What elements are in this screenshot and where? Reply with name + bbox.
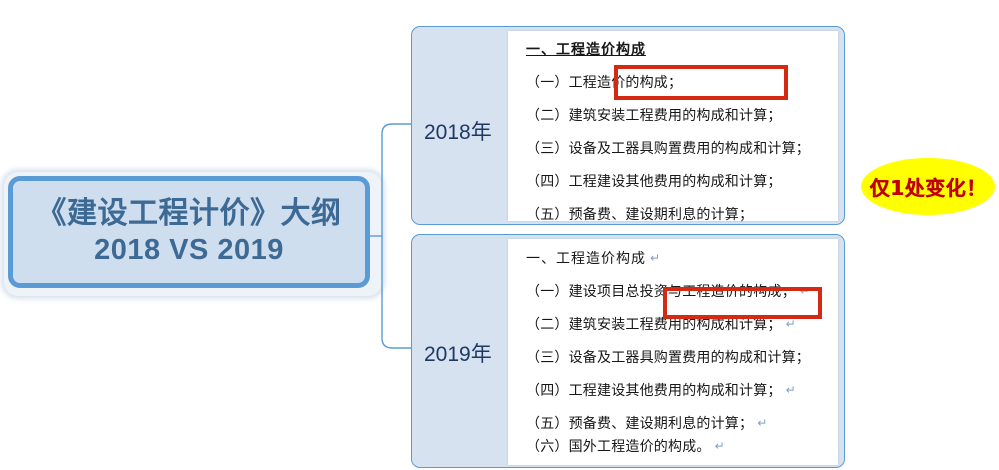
outline-document-2019: 一、工程造价构成↵ （一）建设项目总投资与工程造价的构成；↵ （二）建筑安装工程… [508, 239, 838, 465]
outline-line-2018-3: （三）设备及工器具购置费用的构成和计算； [526, 138, 810, 158]
outline-line-2019-5: （五）预备费、建设期利息的计算；↵ [526, 413, 767, 433]
year-label-2018: 2018年 [424, 116, 492, 146]
title-node[interactable]: 《建设工程计价》大纲 2018 VS 2019 [8, 176, 370, 288]
outline-line-2018-0: 一、工程造价构成 [526, 39, 646, 59]
outline-line-2019-5-text: （五）预备费、建设期利息的计算； [526, 416, 753, 432]
outline-line-2019-6-text: （六）国外工程造价的构成。 [526, 439, 711, 455]
change-count-badge-label: 仅1处变化！ [870, 172, 987, 201]
title-line-secondary: 2018 VS 2019 [94, 233, 284, 268]
outline-line-2019-2: （二）建筑安装工程费用的构成和计算；↵ [526, 314, 796, 334]
outline-line-2018-4: （四）工程建设其他费用的构成和计算； [526, 171, 782, 191]
outline-line-2019-3: （三）设备及工器具购置费用的构成和计算； [526, 347, 810, 367]
year-label-2019: 2019年 [424, 338, 492, 368]
outline-line-2019-4: （四）工程建设其他费用的构成和计算；↵ [526, 380, 796, 400]
branch-panel-2019[interactable]: 2019年 一、工程造价构成↵ （一）建设项目总投资与工程造价的构成；↵ （二）… [411, 234, 845, 468]
outline-document-2018: 一、工程造价构成 （一）工程造价的构成； （二）建筑安装工程费用的构成和计算； … [508, 31, 838, 221]
pilcrow-icon: ↵ [753, 416, 767, 430]
title-line-primary: 《建设工程计价》大纲 [37, 196, 342, 233]
outline-line-2019-6: （六）国外工程造价的构成。↵ [526, 436, 725, 456]
outline-line-2019-3-text: （三）设备及工器具购置费用的构成和计算； [526, 350, 810, 366]
pilcrow-icon: ↵ [711, 439, 725, 453]
slide-canvas: 《建设工程计价》大纲 2018 VS 2019 2018年 一、工程造价构成 （… [0, 0, 999, 470]
outline-line-2019-1-text: （一）建设项目总投资与工程造价的构成； [526, 284, 796, 300]
change-count-badge[interactable]: 仅1处变化！ [861, 158, 995, 215]
pilcrow-icon: ↵ [782, 383, 796, 397]
outline-line-2019-4-text: （四）工程建设其他费用的构成和计算； [526, 383, 782, 399]
outline-line-2018-2: （二）建筑安装工程费用的构成和计算； [526, 105, 782, 125]
branch-panel-2018[interactable]: 2018年 一、工程造价构成 （一）工程造价的构成； （二）建筑安装工程费用的构… [411, 26, 845, 225]
pilcrow-icon: ↵ [646, 251, 661, 265]
outline-line-2019-2-text: （二）建筑安装工程费用的构成和计算； [526, 317, 782, 333]
outline-line-2019-0: 一、工程造价构成↵ [526, 248, 661, 268]
pilcrow-icon: ↵ [782, 317, 796, 331]
outline-line-2018-5: （五）预备费、建设期利息的计算； [526, 204, 753, 224]
outline-line-2019-1: （一）建设项目总投资与工程造价的构成；↵ [526, 281, 810, 301]
pilcrow-icon: ↵ [796, 284, 810, 298]
outline-line-2019-0-text: 一、工程造价构成 [526, 251, 646, 267]
outline-line-2018-1: （一）工程造价的构成； [526, 72, 682, 92]
